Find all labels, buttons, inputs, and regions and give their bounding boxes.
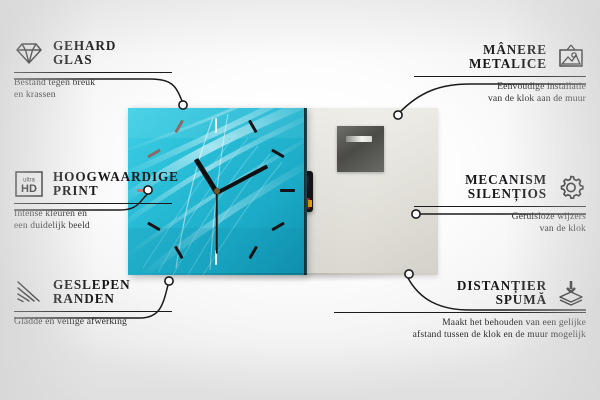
feature-subtitle: Gladde en veilige afwerking bbox=[14, 316, 174, 328]
ultra-hd-icon: ultra HD bbox=[14, 169, 44, 199]
bevel-lines-icon bbox=[14, 277, 44, 307]
feature-title: DISTANȚIERSPUMĂ bbox=[457, 279, 547, 308]
feature-mecanism-silentios[interactable]: MECANISMSILENȚIOS Geruisloze wijzersvan … bbox=[414, 172, 586, 235]
feature-title: GESLEPENRANDEN bbox=[53, 278, 131, 307]
leader-dot-distantier bbox=[405, 270, 413, 278]
feature-distantier-spuma[interactable]: DISTANȚIERSPUMĂ Maakt het behouden van e… bbox=[334, 278, 586, 341]
feature-geslepen-randen[interactable]: GESLEPENRANDEN Gladde en veilige afwerki… bbox=[14, 277, 174, 328]
feature-rule bbox=[14, 203, 172, 204]
feature-gehard-glas[interactable]: GEHARDGLAS Bestand tegen breuken krassen bbox=[14, 38, 174, 101]
feature-title: MECANISMSILENȚIOS bbox=[465, 173, 547, 202]
feature-rule bbox=[14, 311, 172, 312]
feature-subtitle: Maakt het behouden van een gelijkeafstan… bbox=[334, 317, 586, 342]
leader-dot-gehard-glas bbox=[179, 101, 187, 109]
leader-dot-manere bbox=[394, 111, 402, 119]
gear-icon bbox=[556, 172, 586, 202]
infographic-canvas: GEHARDGLAS Bestand tegen breuken krassen… bbox=[0, 0, 600, 400]
feature-subtitle: Intense kleuren eneen duidelijk beeld bbox=[14, 208, 174, 233]
diamond-icon bbox=[14, 38, 44, 68]
picture-frame-icon bbox=[556, 42, 586, 72]
feature-subtitle: Geruisloze wijzersvan de klok bbox=[414, 211, 586, 236]
feature-rule bbox=[414, 206, 586, 207]
feature-subtitle: Bestand tegen breuken krassen bbox=[14, 77, 174, 102]
feature-hoogwaardige-print[interactable]: ultra HD HOOGWAARDIGEPRINT Intense kleur… bbox=[14, 169, 174, 232]
feature-rule bbox=[14, 72, 172, 73]
feature-manere-metalice[interactable]: MÂNEREMETALICE Eenvoudige installatievan… bbox=[414, 42, 586, 105]
feature-rule bbox=[334, 312, 586, 313]
feature-title: MÂNEREMETALICE bbox=[469, 43, 547, 72]
feature-title: HOOGWAARDIGEPRINT bbox=[53, 170, 179, 199]
spacer-press-icon bbox=[556, 278, 586, 308]
feature-title: GEHARDGLAS bbox=[53, 39, 116, 68]
svg-text:HD: HD bbox=[21, 183, 37, 195]
feature-subtitle: Eenvoudige installatievan de klok aan de… bbox=[414, 81, 586, 106]
feature-rule bbox=[414, 76, 586, 77]
